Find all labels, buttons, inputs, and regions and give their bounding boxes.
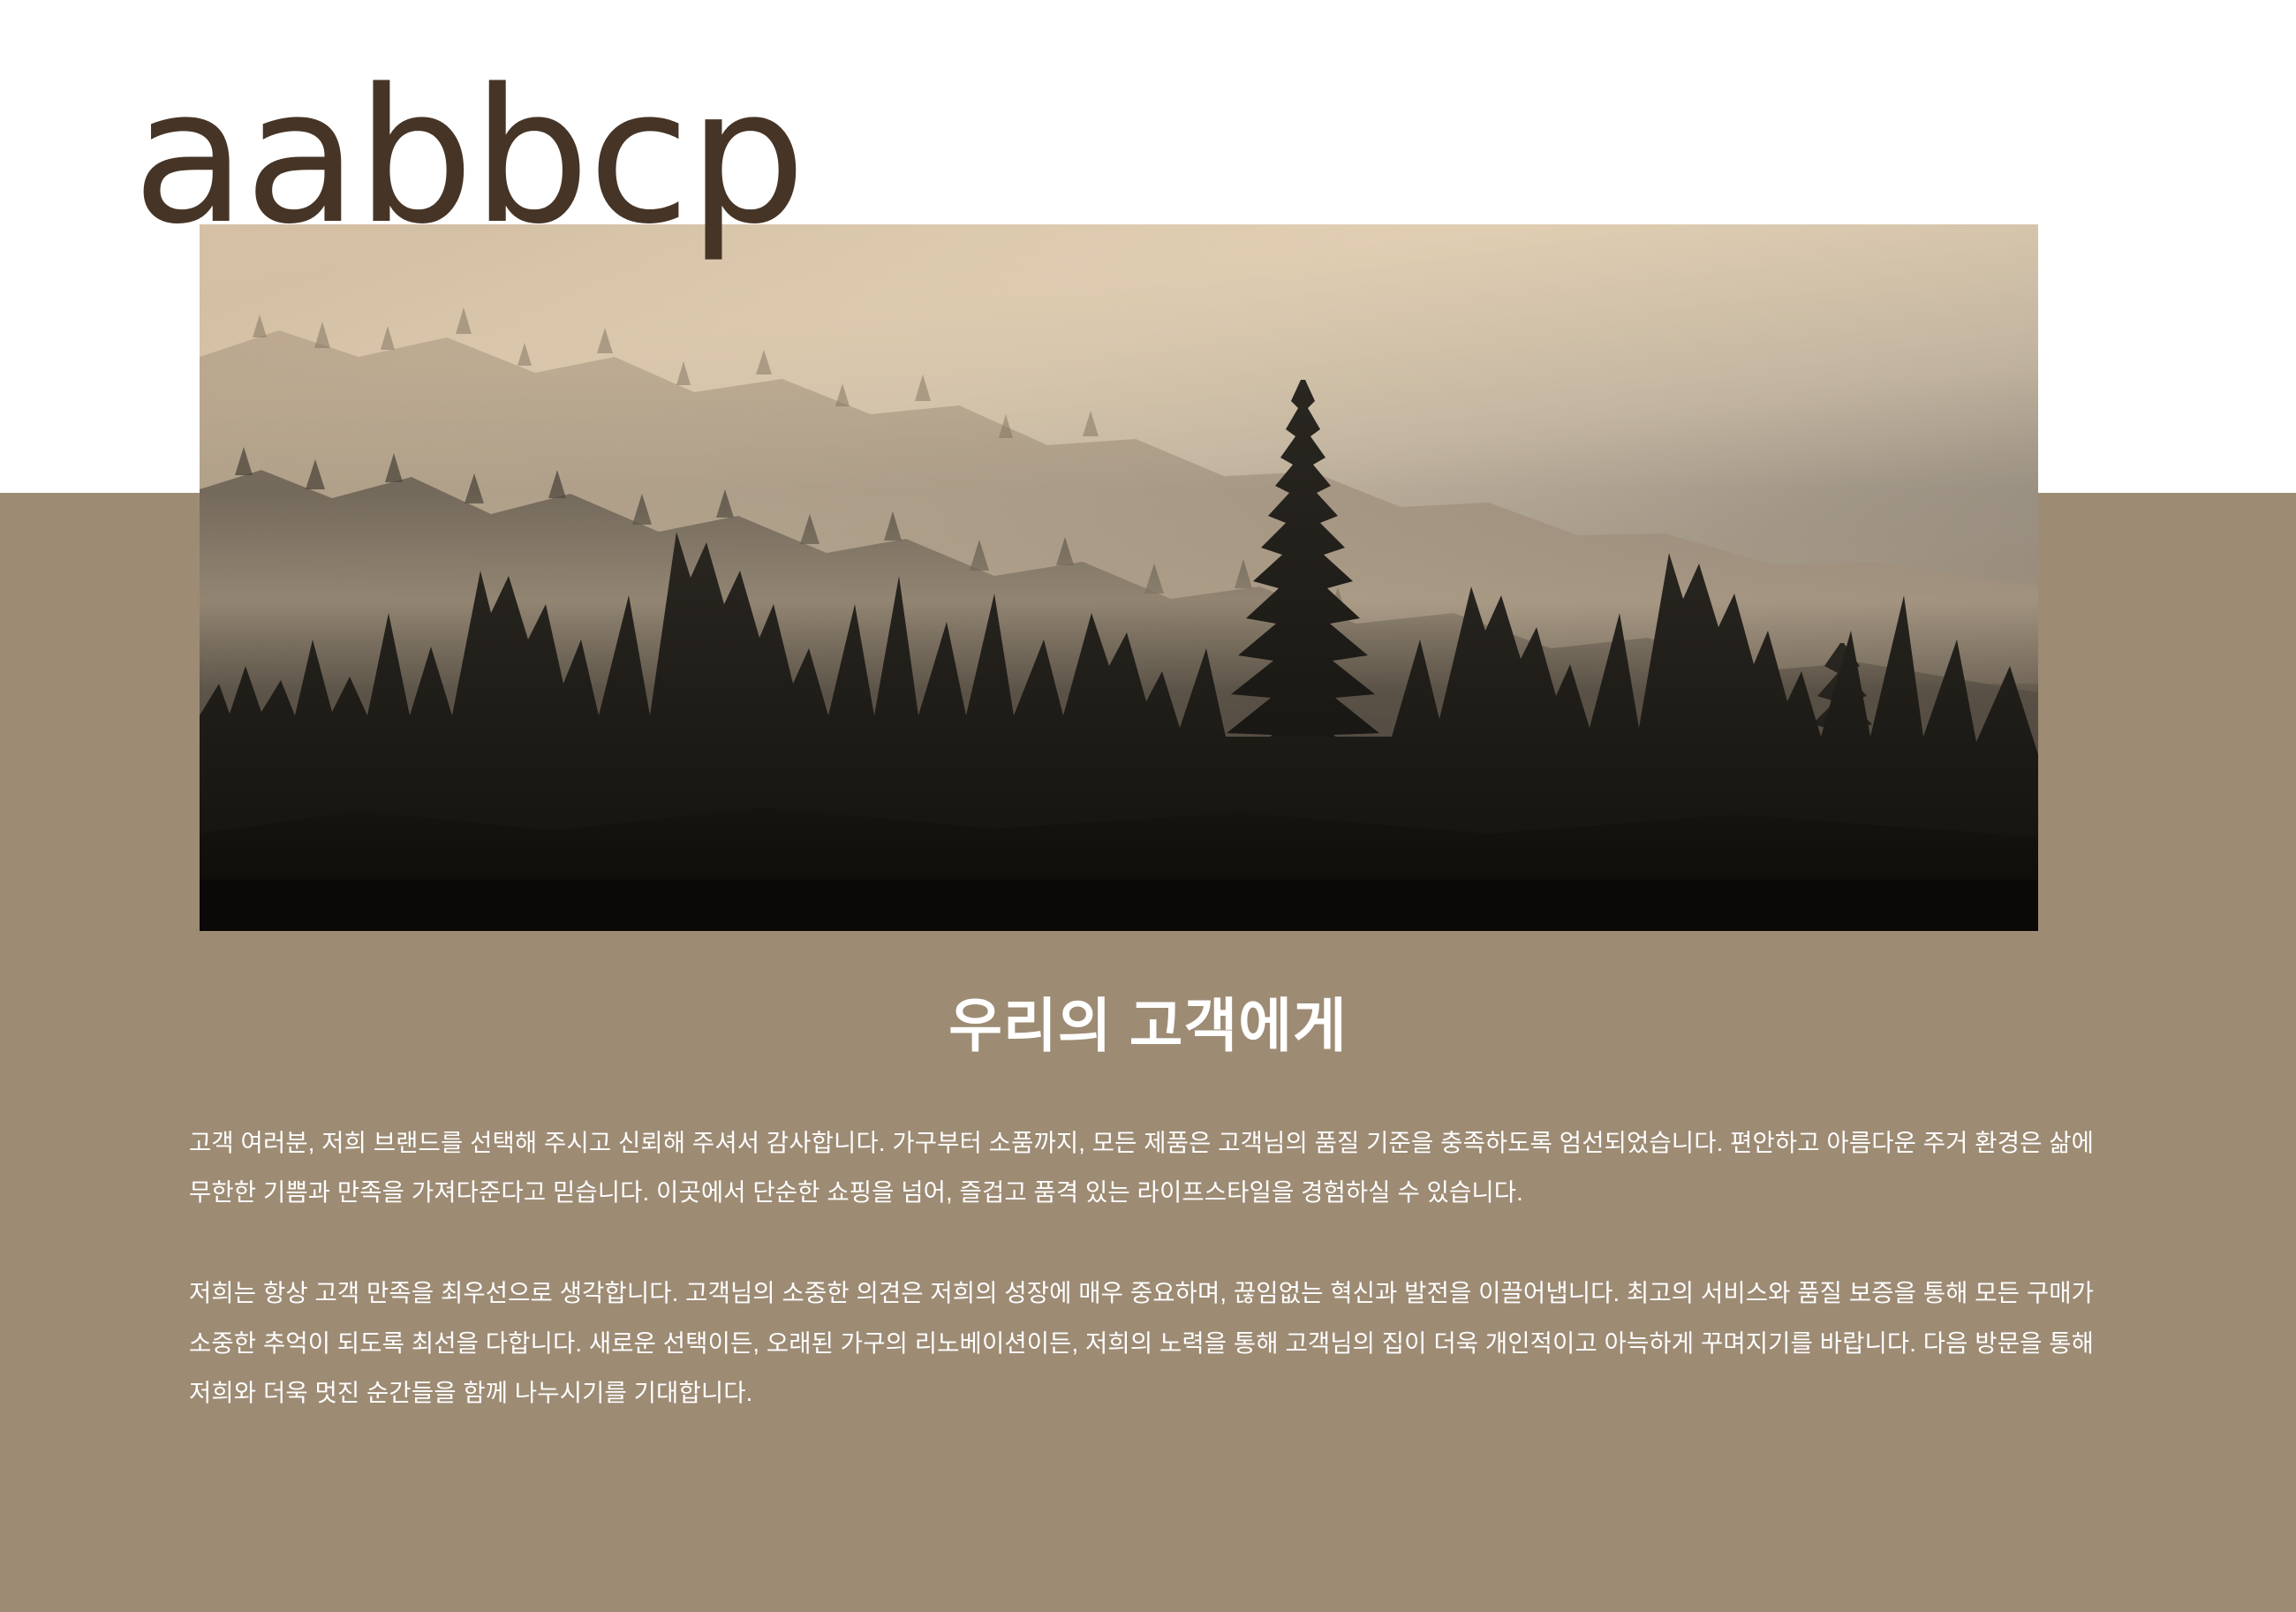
hero-forest-photo — [200, 224, 2038, 931]
page-root: aabbcp 우리의 고객에게 고객 여러분, 저희 브랜드를 선택해 주시고 … — [0, 0, 2296, 1612]
forest-illustration — [200, 224, 2038, 931]
paragraph-1: 고객 여러분, 저희 브랜드를 선택해 주시고 신뢰해 주셔서 감사합니다. 가… — [189, 1118, 2107, 1218]
main-content: 우리의 고객에게 고객 여러분, 저희 브랜드를 선택해 주시고 신뢰해 주셔서… — [0, 931, 2296, 1418]
brand-logo[interactable]: aabbcp — [132, 69, 804, 246]
body-copy: 고객 여러분, 저희 브랜드를 선택해 주시고 신뢰해 주셔서 감사합니다. 가… — [187, 1118, 2109, 1419]
page-title: 우리의 고객에게 — [0, 989, 2296, 1063]
paragraph-2: 저희는 항상 고객 만족을 최우선으로 생각합니다. 고객님의 소중한 의견은 … — [189, 1268, 2107, 1418]
